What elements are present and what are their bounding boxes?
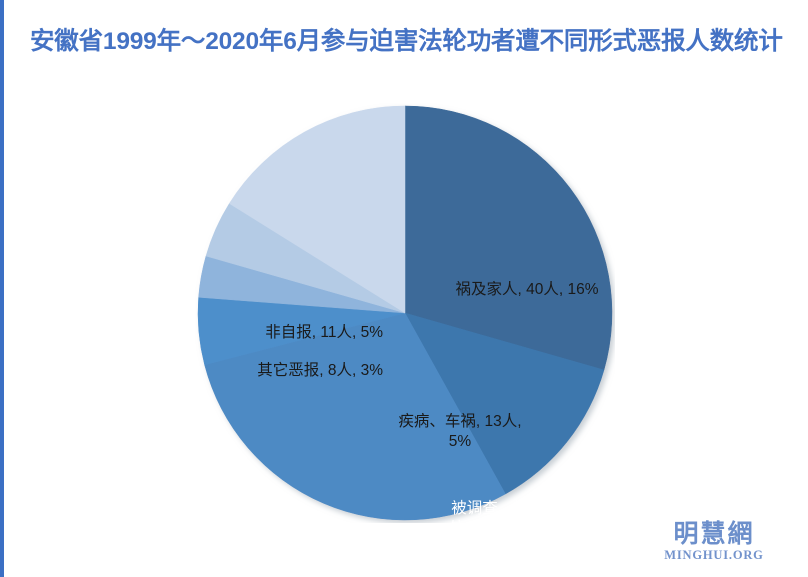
pie-label-ejie: 恶疾, 31人, 13% [630, 488, 808, 508]
watermark-english-text: MINGHUI.ORG [644, 548, 784, 563]
pie-label-huoji-jiaren: 祸及家人, 40人, 16% [427, 280, 627, 300]
chart-page: 安徽省1999年～2020年6月参与迫害法轮功者遭不同形式恶报人数统计 死亡, … [0, 0, 808, 577]
pie-chart: 死亡, 73人, 29% 恶疾, 31人, 13% 被调查、被双规、被 处分、被… [195, 103, 615, 523]
pie-label-siwang: 死亡, 73人, 29% [613, 336, 803, 356]
pie-label-qita-ebao: 其它恶报, 8人, 3% [213, 361, 383, 381]
pie-label-feizibao: 非自报, 11人, 5% [213, 323, 383, 343]
page-title: 安徽省1999年～2020年6月参与迫害法轮功者遭不同形式恶报人数统计 [30, 27, 790, 57]
watermark-chinese-text: 明慧網 [644, 520, 784, 548]
pie-label-jibing-chehuo: 疾病、车祸, 13人, 5% [375, 412, 545, 452]
minghui-watermark: 明慧網 MINGHUI.ORG [644, 520, 784, 563]
left-accent-bar [0, 0, 4, 577]
pie-slice-group [198, 106, 612, 520]
pie-label-beidiaocha: 被调查、被双规、被 处分、被逮捕、入狱, 72人, 29% [423, 499, 619, 559]
pie-chart-svg [195, 103, 615, 523]
